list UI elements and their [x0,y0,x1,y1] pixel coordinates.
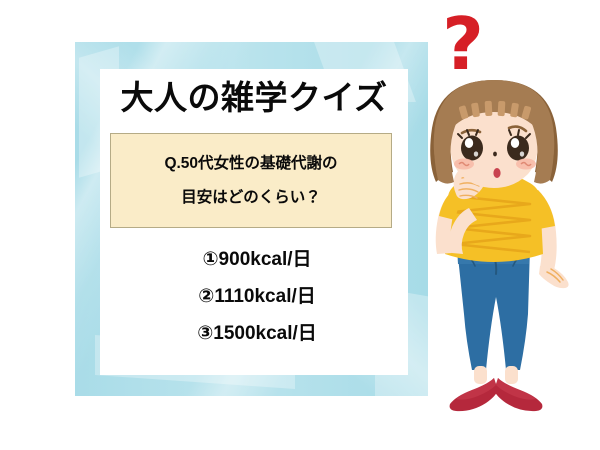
shoes-group [450,378,543,411]
jeans-group [457,247,530,370]
nose [493,152,497,157]
puzzled-woman-illustration [398,78,594,418]
ankles-group [474,366,518,384]
page-title: 大人の雑学クイズ [100,78,408,118]
answer-options-list: ①900kcal/日 ②1110kcal/日 ③1500kcal/日 [100,241,408,352]
quiz-card: 大人の雑学クイズ Q.50代女性の基礎代謝の 目安はどのくらい？ ①900kca… [100,69,408,375]
question-box: Q.50代女性の基礎代謝の 目安はどのくらい？ [110,133,392,228]
question-line-1: Q.50代女性の基礎代謝の [164,147,337,181]
answer-option-1[interactable]: ①900kcal/日 [100,241,408,278]
mouth [493,168,500,178]
answer-option-2[interactable]: ②1110kcal/日 [100,278,408,315]
question-mark-icon: ? [440,6,486,82]
question-line-2: 目安はどのくらい？ [181,181,321,215]
answer-option-3[interactable]: ③1500kcal/日 [100,315,408,352]
